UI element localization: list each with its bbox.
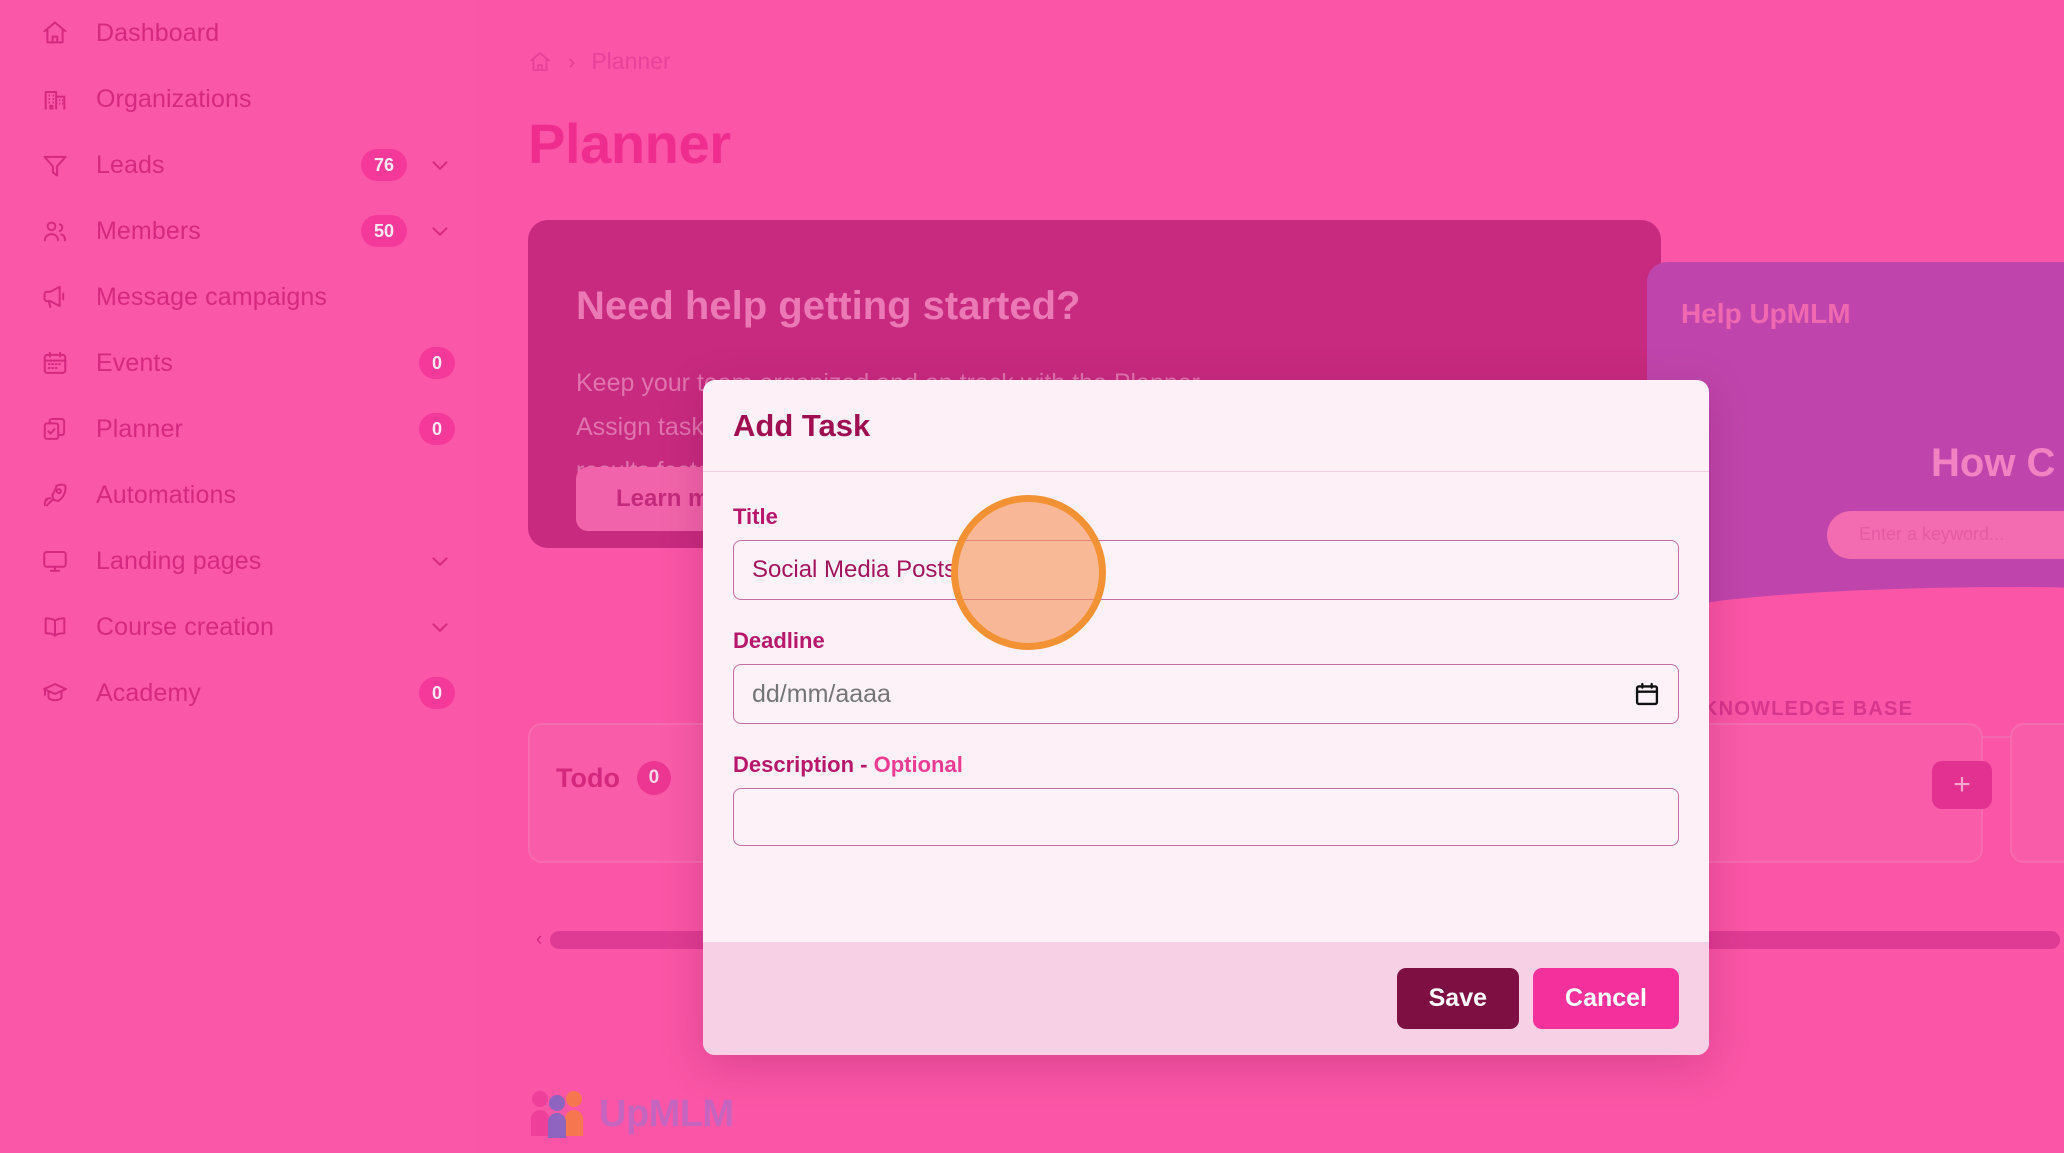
- funnel-icon: [40, 150, 70, 180]
- save-button[interactable]: Save: [1397, 968, 1519, 1029]
- sidebar-item-label: Course creation: [96, 613, 274, 642]
- sidebar-item-automations[interactable]: Automations: [0, 462, 479, 528]
- sidebar-item-label: Events: [96, 349, 173, 378]
- help-banner-title: Need help getting started?: [576, 284, 1613, 329]
- task-title-input[interactable]: [733, 540, 1679, 600]
- column-title: Todo: [556, 763, 620, 794]
- modal-title: Add Task: [733, 408, 870, 444]
- sidebar-item-label: Dashboard: [96, 19, 219, 48]
- breadcrumb: › Planner: [528, 48, 671, 75]
- help-panel-heading: How C: [1931, 441, 2055, 486]
- column-count-badge: 0: [637, 761, 671, 795]
- sidebar-item-label: Organizations: [96, 85, 252, 114]
- modal-header: Add Task: [703, 380, 1709, 472]
- home-icon: [40, 18, 70, 48]
- help-upmlm-panel: Help UpMLM How C Enter a keyword...: [1647, 262, 2064, 742]
- sidebar: Dashboard Organizations Leads 76 Members: [0, 0, 479, 1153]
- page-title: Planner: [528, 111, 731, 176]
- sidebar-item-message-campaigns[interactable]: Message campaigns: [0, 264, 479, 330]
- sidebar-item-leads[interactable]: Leads 76: [0, 132, 479, 198]
- column-header: Todo 0: [556, 761, 671, 795]
- building-icon: [40, 84, 70, 114]
- app-root: Dashboard Organizations Leads 76 Members: [0, 0, 2064, 1153]
- sidebar-badge-events: 0: [419, 347, 455, 379]
- deadline-label: Deadline: [733, 628, 1679, 654]
- sidebar-item-organizations[interactable]: Organizations: [0, 66, 479, 132]
- sidebar-item-events[interactable]: Events 0: [0, 330, 479, 396]
- sidebar-badge-leads: 76: [361, 149, 407, 181]
- sidebar-badge-academy: 0: [419, 677, 455, 709]
- rocket-icon: [40, 480, 70, 510]
- monitor-icon: [40, 546, 70, 576]
- sidebar-item-label: Members: [96, 217, 201, 246]
- knowledge-base-row[interactable]: KNOWLEDGE BASE: [1647, 692, 2064, 726]
- people-group-logo-icon: [528, 1088, 586, 1140]
- sidebar-item-label: Academy: [96, 679, 201, 708]
- sidebar-item-label: Message campaigns: [96, 283, 327, 312]
- graduation-cap-icon: [40, 678, 70, 708]
- deadline-input-wrapper: [733, 664, 1679, 724]
- footer-logo-text: UpMLM: [599, 1093, 734, 1136]
- footer-logo: UpMLM: [528, 1088, 734, 1140]
- title-field-group: Title: [733, 504, 1679, 600]
- description-label: Description - Optional: [733, 752, 1679, 778]
- breadcrumb-current[interactable]: Planner: [591, 48, 670, 75]
- task-deadline-input[interactable]: [733, 664, 1679, 724]
- sidebar-item-label: Planner: [96, 415, 183, 444]
- sidebar-item-label: Landing pages: [96, 547, 261, 576]
- title-label: Title: [733, 504, 1679, 530]
- board-column-next: [2010, 723, 2064, 863]
- megaphone-icon: [40, 282, 70, 312]
- scroll-left-arrow-icon[interactable]: ‹: [528, 928, 550, 952]
- modal-footer: Save Cancel: [703, 942, 1709, 1055]
- modal-body: Title Deadline Description - Optional: [703, 472, 1709, 942]
- sidebar-item-academy[interactable]: Academy 0: [0, 660, 479, 726]
- sidebar-badge-members: 50: [361, 215, 407, 247]
- clipboard-check-icon: [40, 414, 70, 444]
- chevron-down-icon[interactable]: [425, 150, 455, 180]
- people-icon: [40, 216, 70, 246]
- chevron-down-icon[interactable]: [425, 216, 455, 246]
- keyword-search-placeholder: Enter a keyword...: [1859, 524, 2004, 545]
- add-task-button[interactable]: +: [1932, 761, 1992, 809]
- breadcrumb-separator: ›: [568, 49, 575, 75]
- sidebar-badge-planner: 0: [419, 413, 455, 445]
- book-icon: [40, 612, 70, 642]
- sidebar-item-label: Leads: [96, 151, 165, 180]
- keyword-search-input[interactable]: Enter a keyword...: [1827, 511, 2064, 559]
- sidebar-item-course-creation[interactable]: Course creation: [0, 594, 479, 660]
- task-description-input[interactable]: [733, 788, 1679, 846]
- sidebar-item-planner[interactable]: Planner 0: [0, 396, 479, 462]
- help-panel-title: Help UpMLM: [1681, 298, 1851, 330]
- chevron-down-icon[interactable]: [425, 612, 455, 642]
- description-label-dash: -: [860, 752, 867, 777]
- cancel-button[interactable]: Cancel: [1533, 968, 1679, 1029]
- sidebar-item-label: Automations: [96, 481, 236, 510]
- home-icon[interactable]: [528, 50, 552, 74]
- sidebar-item-landing-pages[interactable]: Landing pages: [0, 528, 479, 594]
- description-label-text: Description: [733, 752, 854, 777]
- sidebar-item-dashboard[interactable]: Dashboard: [0, 0, 479, 66]
- deadline-field-group: Deadline: [733, 628, 1679, 724]
- sidebar-item-members[interactable]: Members 50: [0, 198, 479, 264]
- description-field-group: Description - Optional: [733, 752, 1679, 851]
- add-task-modal: Add Task Title Deadline Description: [703, 380, 1709, 1055]
- knowledge-base-label: KNOWLEDGE BASE: [1703, 698, 1913, 721]
- description-optional-text: Optional: [874, 752, 963, 777]
- calendar-icon: [40, 348, 70, 378]
- chevron-down-icon[interactable]: [425, 546, 455, 576]
